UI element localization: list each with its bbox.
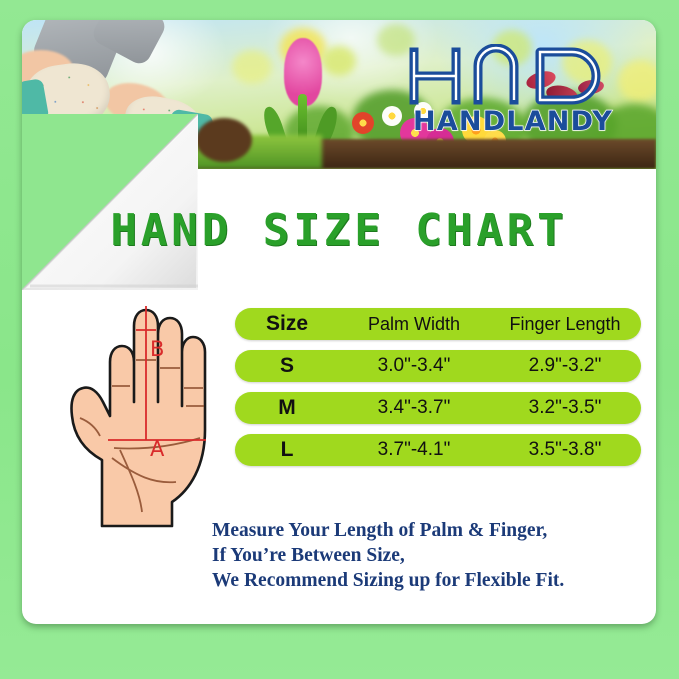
page-title: HAND SIZE CHART [22, 205, 656, 256]
banner-flower-red [352, 112, 374, 134]
hand-measurement-diagram: B A [50, 290, 230, 530]
table-row: S 3.0"-3.4" 2.9"-3.2" [235, 350, 641, 382]
cell-size: M [235, 396, 339, 420]
page-background: HANDLANDY [0, 0, 679, 679]
handlandy-logomark-icon [404, 44, 622, 106]
table-row: L 3.7"-4.1" 3.5"-3.8" [235, 434, 641, 466]
root-ball [196, 118, 252, 162]
hand-shape [71, 310, 205, 526]
banner-bokeh [322, 46, 356, 76]
instruction-line-1: Measure Your Length of Palm & Finger, [212, 518, 642, 543]
column-header-size: Size [235, 312, 339, 336]
finger-length-label: B [150, 337, 164, 361]
column-header-palm-width: Palm Width [339, 314, 489, 335]
banner-bokeh [618, 60, 656, 102]
sizing-instructions: Measure Your Length of Palm & Finger, If… [212, 518, 642, 593]
column-header-finger-length: Finger Length [489, 314, 641, 335]
cell-palm-width: 3.0"-3.4" [339, 355, 489, 377]
cell-finger-length: 3.2"-3.5" [489, 397, 641, 419]
brand-wordmark: HANDLANDY [404, 106, 622, 138]
table-row: M 3.4"-3.7" 3.2"-3.5" [235, 392, 641, 424]
brand-logo: HANDLANDY [404, 44, 622, 149]
page-curl-corner [22, 114, 198, 290]
table-header-row: Size Palm Width Finger Length [235, 308, 641, 340]
cell-palm-width: 3.4"-3.7" [339, 397, 489, 419]
banner-flower-white [382, 106, 402, 126]
palm-width-label: A [150, 437, 165, 461]
cell-size: L [235, 438, 339, 462]
size-chart-card: HANDLANDY [22, 20, 656, 624]
instruction-line-2: If You’re Between Size, [212, 543, 642, 568]
cell-size: S [235, 354, 339, 378]
instruction-line-3: We Recommend Sizing up for Flexible Fit. [212, 568, 642, 593]
size-chart-table: Size Palm Width Finger Length S 3.0"-3.4… [235, 308, 641, 476]
cell-palm-width: 3.7"-4.1" [339, 439, 489, 461]
cell-finger-length: 2.9"-3.2" [489, 355, 641, 377]
cell-finger-length: 3.5"-3.8" [489, 439, 641, 461]
